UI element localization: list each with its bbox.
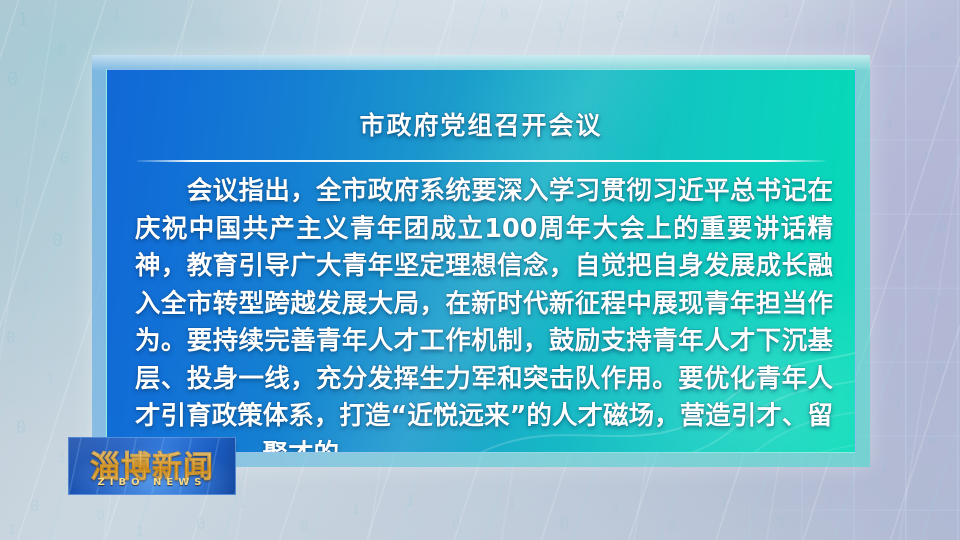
channel-logo: 淄博新闻 ZIBO NEWS xyxy=(68,437,236,495)
background-binary-digit: 0 xyxy=(928,432,938,448)
background-binary-digit: 0 xyxy=(616,10,625,25)
background-binary-digit: 0 xyxy=(880,518,889,533)
background-binary-digit: 1 xyxy=(22,282,30,295)
background-binary-digit: 0 xyxy=(7,70,18,89)
background-binary-digit: 0 xyxy=(58,42,66,56)
background-binary-digit: 1 xyxy=(886,118,894,131)
background-binary-digit: 1 xyxy=(40,118,48,131)
background-binary-digit: 1 xyxy=(58,452,66,465)
background-binary-digit: 0 xyxy=(938,220,947,235)
background-binary-digit: 0 xyxy=(936,360,945,375)
background-binary-digit: 1 xyxy=(46,372,54,386)
background-binary-digit: 1 xyxy=(406,494,415,509)
background-binary-digit: 0 xyxy=(6,330,16,346)
background-binary-digit: 0 xyxy=(836,20,846,36)
channel-logo-english-name: ZIBO NEWS xyxy=(69,477,235,488)
card-title: 市政府党组召开会议 xyxy=(107,106,855,142)
background-binary-digit: 0 xyxy=(196,516,206,532)
background-binary-digit: 0 xyxy=(726,12,735,27)
background-binary-digit: 0 xyxy=(16,420,26,437)
news-card-frame: 市政府党组召开会议 会议指出，全市政府系统要深入学习贯彻习近平总书记在庆祝中国共… xyxy=(92,55,870,467)
background-binary-digit: 1 xyxy=(880,462,888,475)
background-binary-digit: 1 xyxy=(8,524,16,537)
background-binary-digit: 1 xyxy=(136,526,144,539)
background-binary-digit: 0 xyxy=(452,518,460,532)
broadcast-screen: 1001010101010110010101101010101010101010… xyxy=(0,0,960,540)
background-binary-digit: 0 xyxy=(668,520,677,535)
background-binary-digit: 0 xyxy=(60,150,70,166)
background-binary-digit: 1 xyxy=(112,8,121,23)
background-binary-digit: 0 xyxy=(52,232,63,250)
background-binary-digit: 1 xyxy=(782,6,790,20)
background-binary-digit: 1 xyxy=(826,498,834,511)
background-binary-digit: 1 xyxy=(508,498,516,511)
background-binary-digit: 0 xyxy=(500,8,508,22)
background-binary-digit: 1 xyxy=(672,26,680,39)
background-binary-digit: 1 xyxy=(612,500,620,513)
card-divider xyxy=(137,160,825,162)
background-binary-digit: 1 xyxy=(894,398,902,411)
background-binary-digit: 0 xyxy=(152,34,160,47)
background-binary-digit: 1 xyxy=(928,500,936,513)
background-binary-digit: 1 xyxy=(898,256,906,269)
background-binary-digit: 0 xyxy=(930,292,940,308)
background-binary-digit: 0 xyxy=(924,150,934,166)
news-card: 市政府党组召开会议 会议指出，全市政府系统要深入学习贯彻习近平总书记在庆祝中国共… xyxy=(106,69,856,453)
background-binary-digit: 0 xyxy=(30,498,40,514)
background-binary-digit: 0 xyxy=(930,30,940,46)
background-binary-digit: 1 xyxy=(556,22,564,35)
background-binary-digit: 0 xyxy=(560,516,570,532)
background-binary-digit: 1 xyxy=(900,62,908,75)
background-binary-digit: 1 xyxy=(720,496,728,509)
background-binary-digit: 1 xyxy=(892,186,900,199)
background-binary-digit: 1 xyxy=(18,12,28,29)
background-binary-digit: 0 xyxy=(776,514,786,530)
background-binary-digit: 1 xyxy=(238,498,246,511)
background-binary-digit: 1 xyxy=(352,504,360,517)
background-binary-digit: 0 xyxy=(300,520,309,535)
background-binary-digit: 1 xyxy=(12,196,20,210)
background-binary-digit: 0 xyxy=(940,92,949,107)
background-binary-digit: 1 xyxy=(884,326,892,339)
background-binary-digit: 1 xyxy=(888,8,896,21)
background-binary-digit: 0 xyxy=(96,508,105,523)
card-body-text: 会议指出，全市政府系统要深入学习贯彻习近平总书记在庆祝中国共产主义青年团成立10… xyxy=(135,173,833,453)
